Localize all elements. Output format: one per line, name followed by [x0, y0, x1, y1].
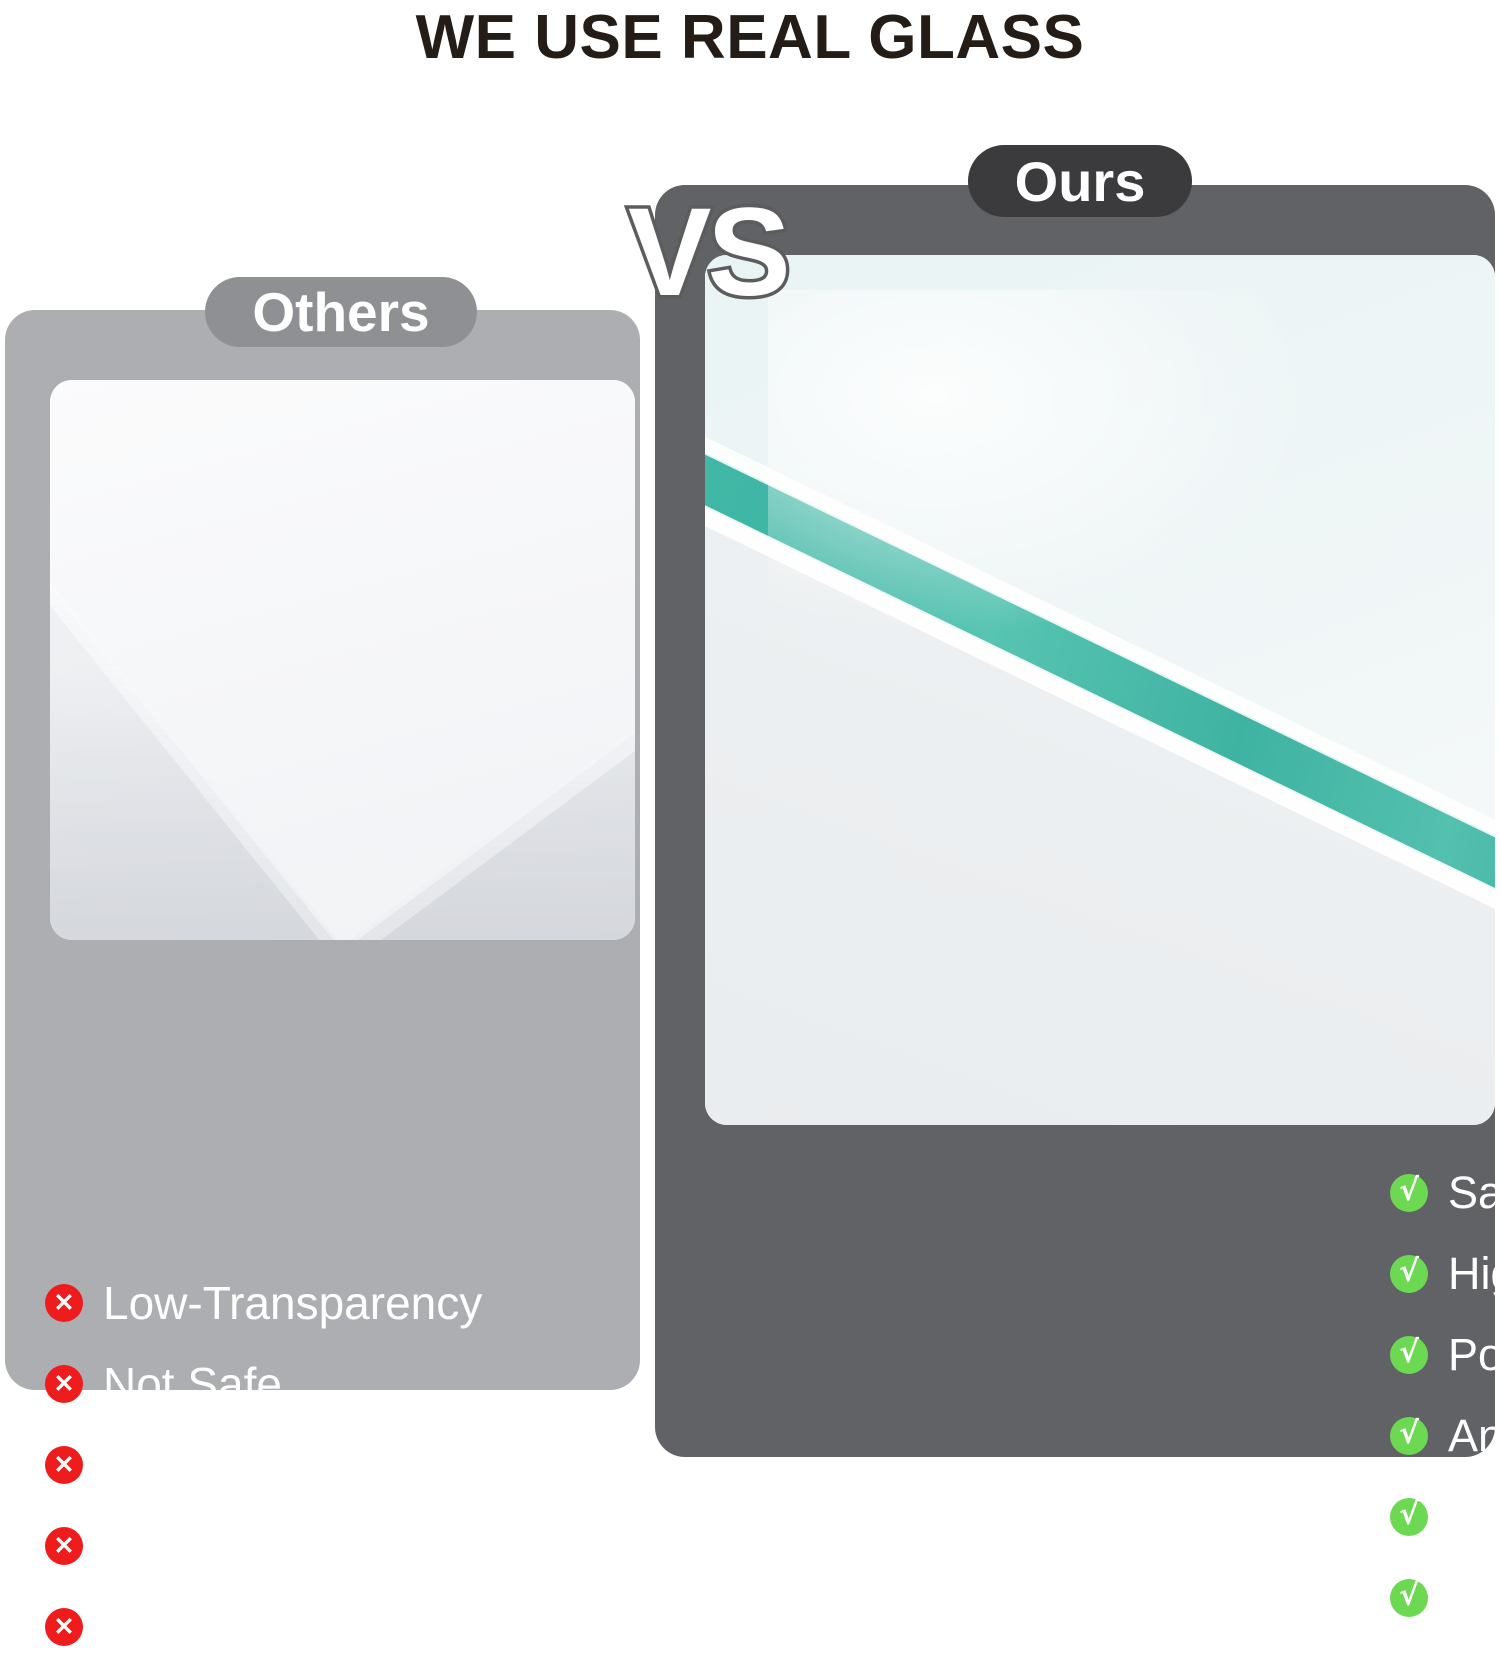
others-comparison-card: ✕ Low-Transparency ✕ Not Safe ✕ Easily S… — [5, 310, 640, 1390]
others-product-photo — [50, 380, 635, 940]
list-item: √ Polished Edges for Extra Safety — [1390, 1314, 1500, 1395]
check-icon: √ — [1390, 1579, 1428, 1617]
list-item: ✕ Not Enviromentally — [45, 1586, 625, 1667]
list-item: ✕ Low-Transparency — [45, 1262, 625, 1343]
others-feature-list: ✕ Low-Transparency ✕ Not Safe ✕ Easily S… — [45, 1262, 625, 1667]
ours-product-photo — [705, 255, 1495, 1125]
list-item-label: Easily Scratched — [103, 1438, 446, 1492]
ours-comparison-card: √ Safety Tempered-Glass √ High-Transpare… — [655, 185, 1495, 1457]
list-item-label: Polished Edges for Extra Safety — [1448, 1329, 1500, 1381]
list-item: ✕ Not Safe — [45, 1343, 625, 1424]
cross-icon: ✕ — [45, 1608, 83, 1646]
list-item-label: Not Safe — [103, 1357, 282, 1411]
check-icon: √ — [1390, 1498, 1428, 1536]
list-item: √ Safe enough — [1390, 1476, 1500, 1557]
list-item-label: Not Enviromentally — [103, 1600, 489, 1654]
cross-icon: ✕ — [45, 1527, 83, 1565]
list-item-label: Safety Tempered-Glass — [1448, 1167, 1500, 1219]
list-item: ✕ Easily Scratched — [45, 1424, 625, 1505]
list-item-label: Non-glare — [1448, 1572, 1500, 1624]
check-icon: √ — [1390, 1336, 1428, 1374]
list-item-label: Anti-Scratch & Fingerprint — [1448, 1410, 1500, 1462]
list-item: √ Safety Tempered-Glass — [1390, 1152, 1500, 1233]
check-icon: √ — [1390, 1417, 1428, 1455]
ours-feature-list: √ Safety Tempered-Glass √ High-Transpare… — [1390, 1152, 1500, 1638]
list-item-label: High-Transparency — [1448, 1248, 1500, 1300]
list-item-label: Safe enough — [1448, 1491, 1500, 1543]
list-item-label: Low-Transparency — [103, 1276, 482, 1330]
ours-badge: Ours — [968, 145, 1192, 217]
vs-label: VS — [628, 190, 787, 315]
list-item: √ Non-glare — [1390, 1557, 1500, 1638]
list-item-label: Easily Fingerprinted — [103, 1519, 510, 1573]
page-title: WE USE REAL GLASS — [0, 2, 1500, 73]
glass-sheen — [768, 290, 1321, 638]
cross-icon: ✕ — [45, 1284, 83, 1322]
check-icon: √ — [1390, 1255, 1428, 1293]
list-item: ✕ Easily Fingerprinted — [45, 1505, 625, 1586]
others-badge: Others — [205, 277, 477, 347]
check-icon: √ — [1390, 1174, 1428, 1212]
list-item: √ Anti-Scratch & Fingerprint — [1390, 1395, 1500, 1476]
cross-icon: ✕ — [45, 1365, 83, 1403]
cross-icon: ✕ — [45, 1446, 83, 1484]
list-item: √ High-Transparency — [1390, 1233, 1500, 1314]
